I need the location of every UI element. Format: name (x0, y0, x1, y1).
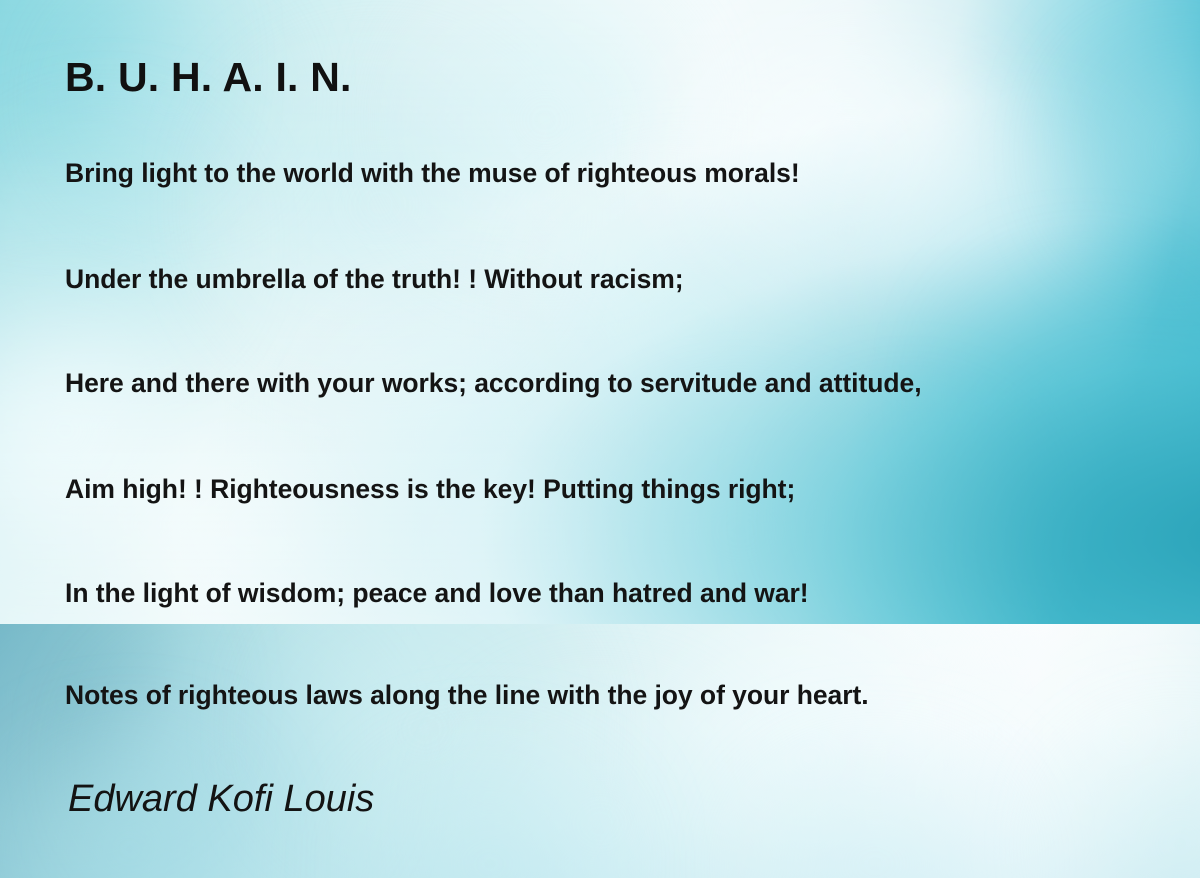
poem-text-layer: B. U. H. A. I. N. Bring light to the wor… (0, 0, 1200, 878)
poem-author-signature: Edward Kofi Louis (68, 778, 374, 821)
poem-title: B. U. H. A. I. N. (65, 54, 352, 101)
poem-image-canvas: B. U. H. A. I. N. Bring light to the wor… (0, 0, 1200, 878)
poem-line: Notes of righteous laws along the line w… (65, 680, 869, 711)
poem-line: Under the umbrella of the truth! ! Witho… (65, 264, 684, 295)
poem-line: In the light of wisdom; peace and love t… (65, 578, 809, 609)
poem-line: Here and there with your works; accordin… (65, 368, 922, 399)
poem-line: Aim high! ! Righteousness is the key! Pu… (65, 474, 795, 505)
poem-line: Bring light to the world with the muse o… (65, 158, 800, 189)
